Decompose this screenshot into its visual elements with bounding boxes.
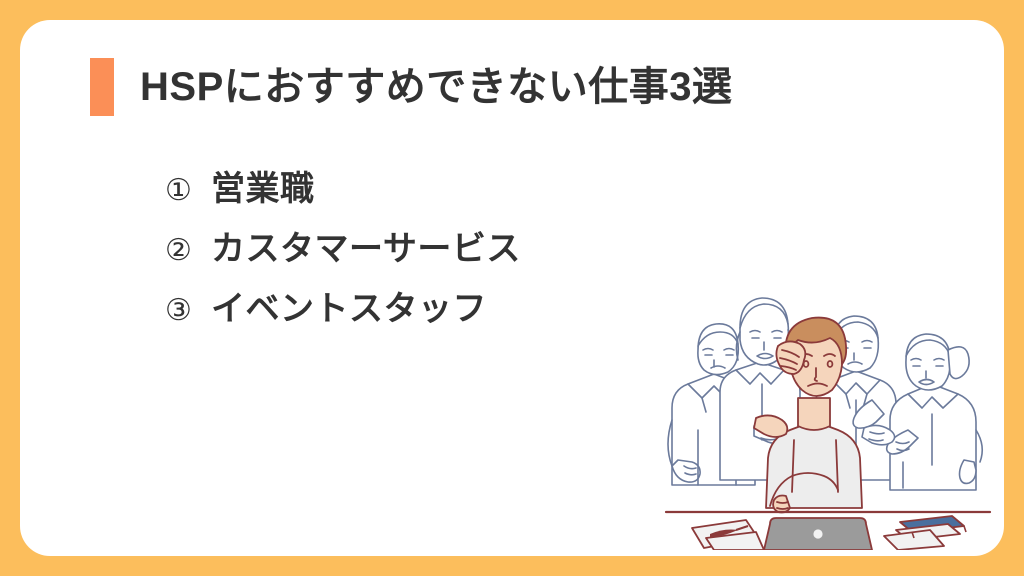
list-item-label: 営業職 <box>211 172 315 206</box>
title-accent-bar <box>90 58 114 116</box>
stressed-worker-illustration-svg: .bgline { fill:#ffffff; stroke:#6b7a9b; … <box>658 280 998 550</box>
header-block: HSPにおすすめできない仕事3選 <box>90 58 733 116</box>
books-and-paper <box>884 516 966 550</box>
list-item-marker: ③ <box>165 296 211 326</box>
job-list: ① 営業職 ② カスタマーサービス ③ イベントスタッフ <box>165 172 521 352</box>
list-item-label: カスタマーサービス <box>211 232 521 266</box>
coworker-right-woman <box>887 334 983 490</box>
list-item: ② カスタマーサービス <box>165 232 521 292</box>
slide-card: HSPにおすすめできない仕事3選 ① 営業職 ② カスタマーサービス ③ イベン… <box>20 20 1004 556</box>
page-title: HSPにおすすめできない仕事3選 <box>140 67 733 107</box>
list-item-marker: ② <box>165 236 211 266</box>
list-item-label: イベントスタッフ <box>211 292 487 326</box>
papers-and-pen <box>692 520 764 550</box>
list-item: ③ イベントスタッフ <box>165 292 521 352</box>
stressed-worker-illustration: .bgline { fill:#ffffff; stroke:#6b7a9b; … <box>658 280 998 550</box>
slide-frame: HSPにおすすめできない仕事3選 ① 営業職 ② カスタマーサービス ③ イベン… <box>0 0 1024 576</box>
laptop <box>764 518 872 550</box>
list-item: ① 営業職 <box>165 172 521 232</box>
list-item-marker: ① <box>165 176 211 206</box>
